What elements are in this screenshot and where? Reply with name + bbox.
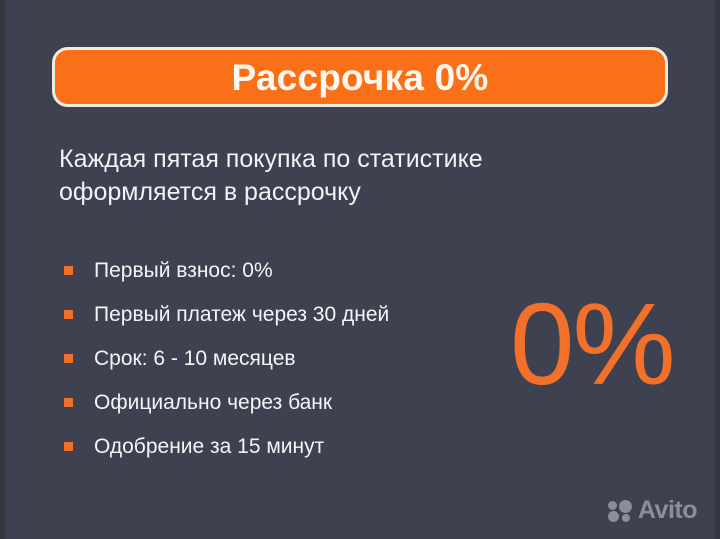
title-banner: Рассрочка 0% xyxy=(52,47,668,107)
list-item-label: Официально через банк xyxy=(94,392,332,413)
subtitle-block: Каждая пятая покупка по статистике оформ… xyxy=(59,143,659,209)
avito-brand-label: Avito xyxy=(638,498,697,523)
avito-watermark: Avito xyxy=(608,498,697,523)
list-item: Одобрение за 15 минут xyxy=(64,424,494,468)
square-bullet-icon xyxy=(64,398,73,407)
square-bullet-icon xyxy=(64,266,73,275)
subtitle-line-1: Каждая пятая покупка по статистике xyxy=(59,143,659,176)
list-item: Официально через банк xyxy=(64,380,494,424)
avito-dots-icon xyxy=(608,500,635,522)
square-bullet-icon xyxy=(64,354,73,363)
subtitle-line-2: оформляется в рассрочку xyxy=(59,176,659,209)
promo-slide: Рассрочка 0% Каждая пятая покупка по ста… xyxy=(0,0,720,539)
list-item-label: Срок: 6 - 10 месяцев xyxy=(94,348,296,369)
list-item-label: Первый взнос: 0% xyxy=(94,260,273,281)
list-item: Первый взнос: 0% xyxy=(64,248,494,292)
list-item: Первый платеж через 30 дней xyxy=(64,292,494,336)
page-title: Рассрочка 0% xyxy=(232,59,489,96)
list-item-label: Первый платеж через 30 дней xyxy=(94,304,389,325)
decorative-percent: 0% xyxy=(510,286,674,402)
square-bullet-icon xyxy=(64,442,73,451)
list-item: Срок: 6 - 10 месяцев xyxy=(64,336,494,380)
list-item-label: Одобрение за 15 минут xyxy=(94,436,324,457)
feature-list: Первый взнос: 0% Первый платеж через 30 … xyxy=(64,248,494,468)
square-bullet-icon xyxy=(64,310,73,319)
